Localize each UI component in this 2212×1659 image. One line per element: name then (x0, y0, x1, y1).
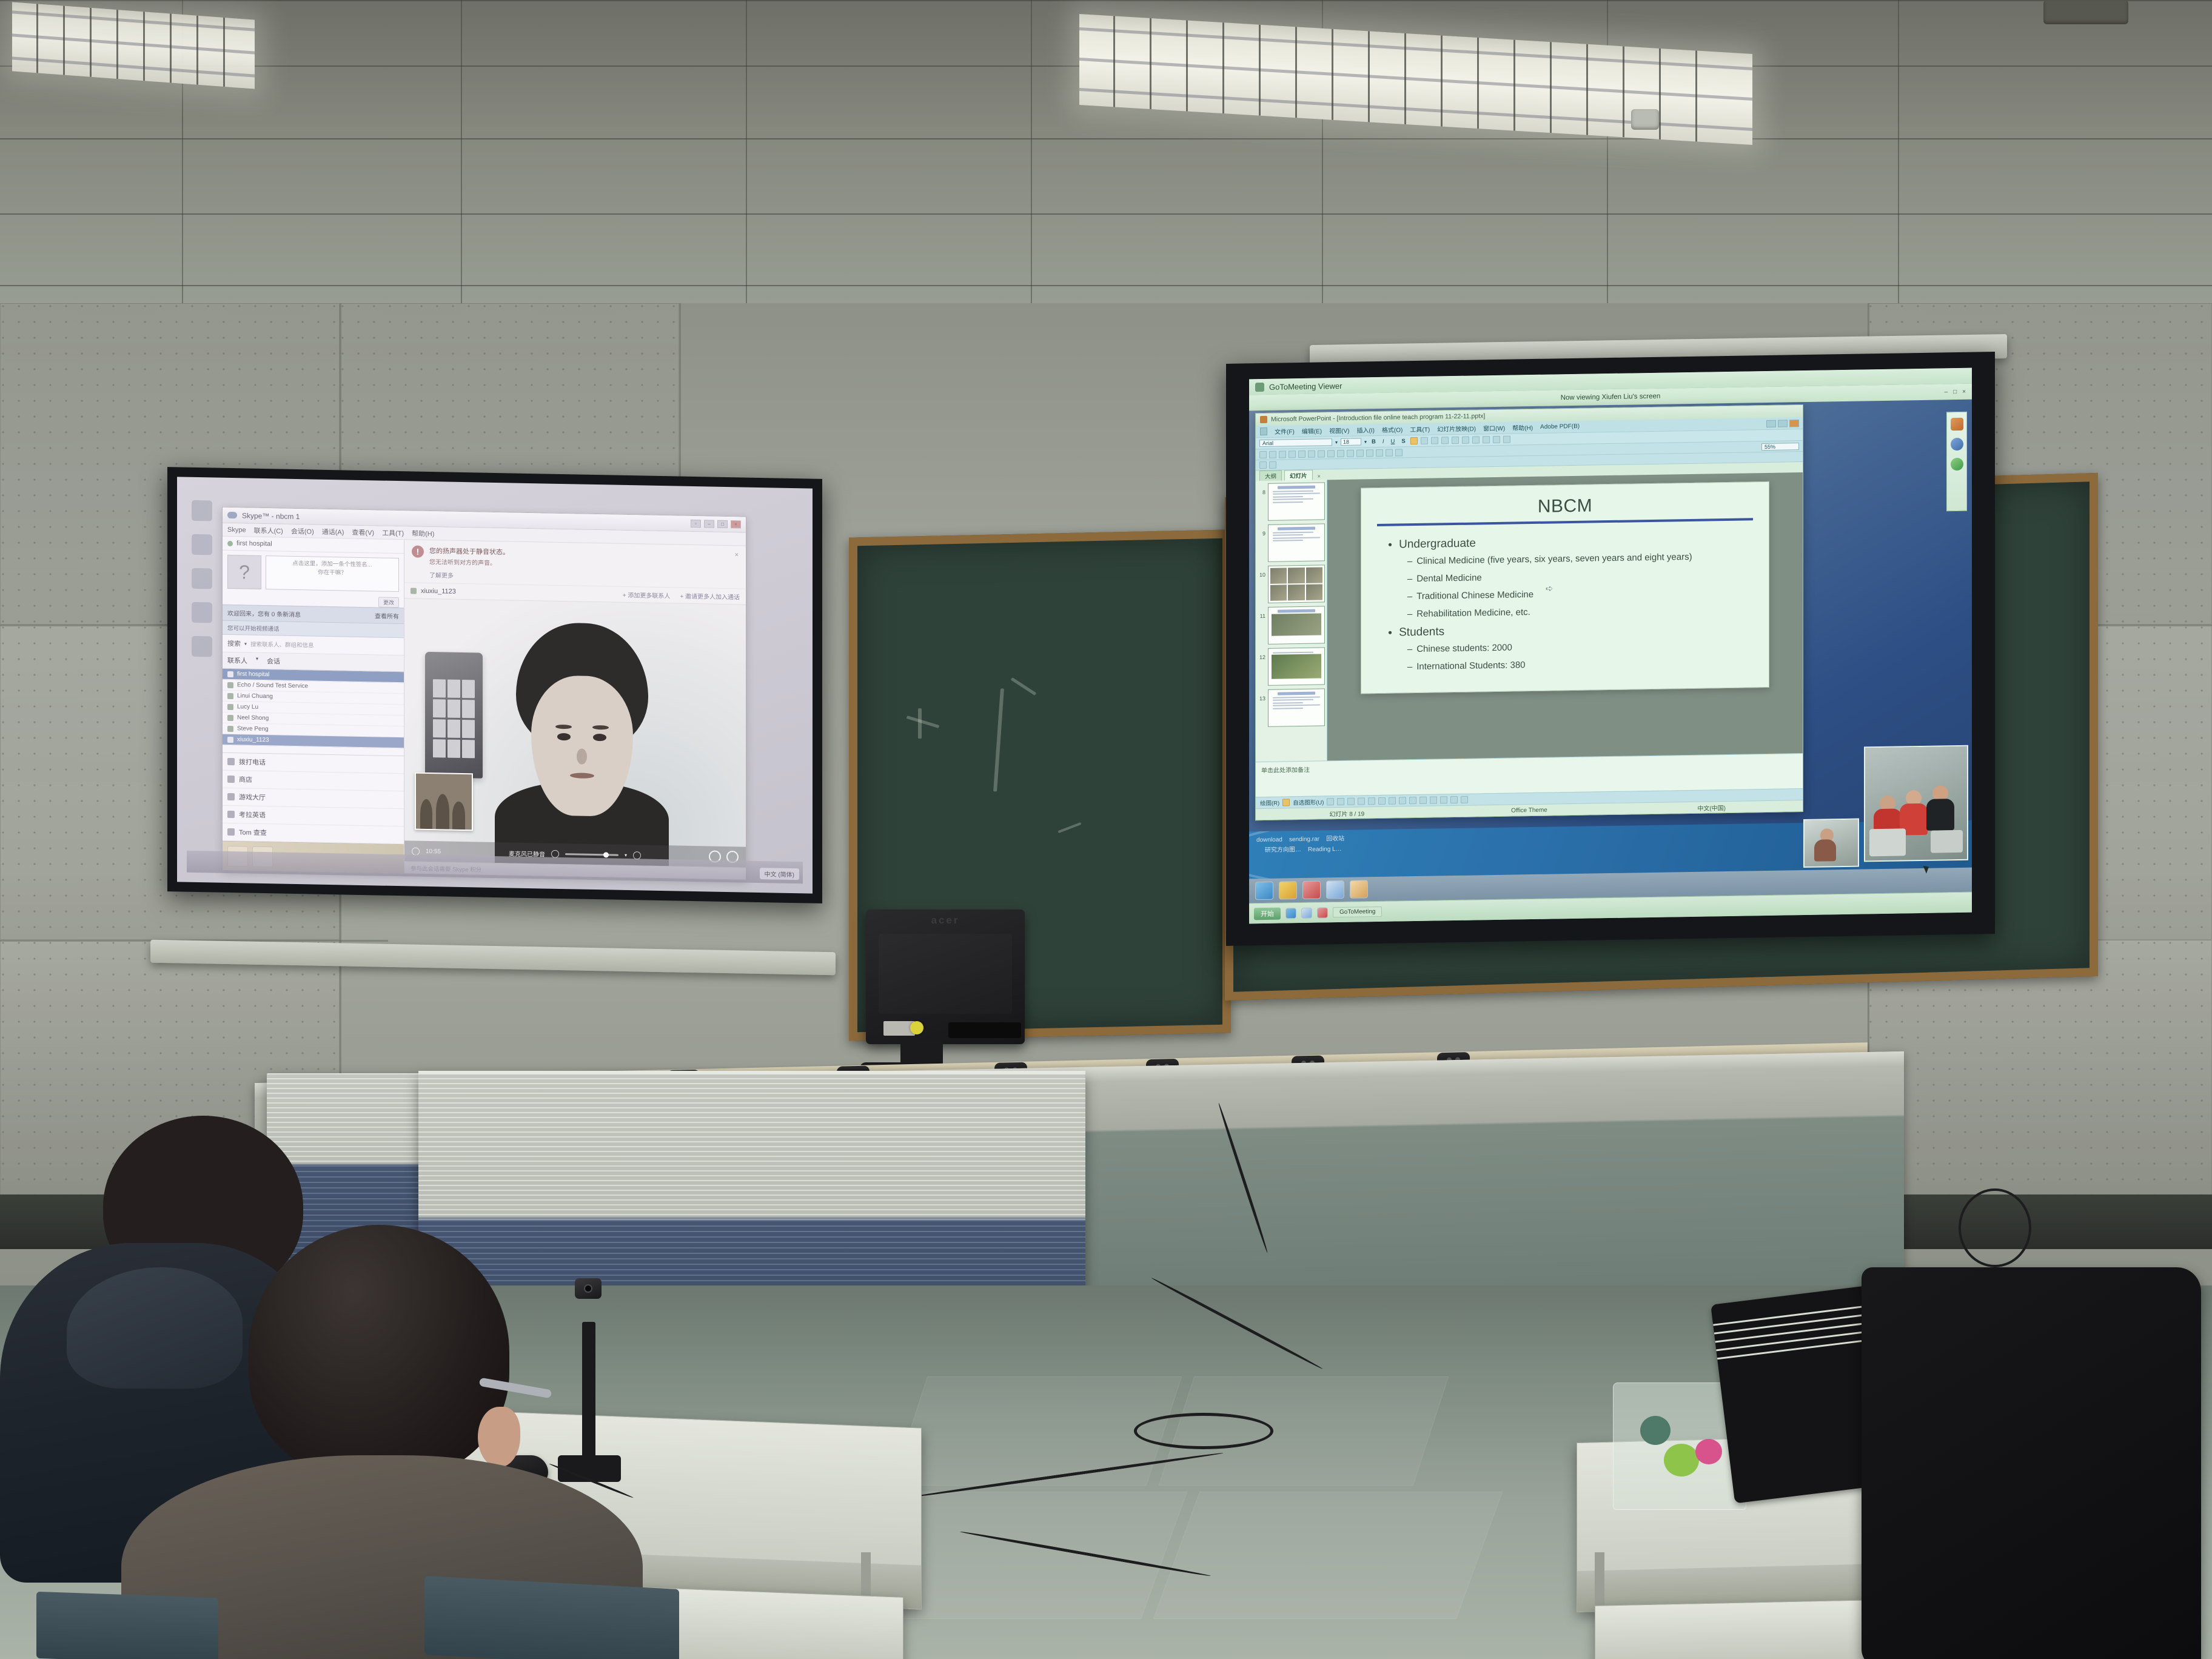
contact-name: Steve Peng (237, 725, 269, 732)
menu-item[interactable]: 帮助(H) (1512, 423, 1533, 432)
contact-status-icon (227, 692, 233, 699)
font-size-select[interactable]: 18 (1341, 438, 1361, 446)
ceiling (0, 0, 2212, 327)
copy-button[interactable] (1327, 450, 1335, 457)
online-status-icon (227, 540, 233, 546)
font-color-button[interactable] (1440, 796, 1447, 803)
oval-tool-button[interactable] (1358, 797, 1365, 805)
menu-item[interactable]: 幻灯片放映(D) (1437, 423, 1476, 433)
bullet-text: Chinese students: 2000 (1416, 642, 1512, 656)
nav-label: 拨打电话 (239, 757, 266, 767)
lectern-top-edge (418, 1071, 1085, 1074)
menu-item[interactable]: 编辑(E) (1302, 426, 1322, 435)
menu-item[interactable]: 插入(I) (1356, 425, 1374, 434)
close-button[interactable]: × (1962, 388, 1966, 395)
slide-number: 9 (1258, 525, 1265, 537)
theme-indicator: Office Theme (1438, 805, 1621, 815)
shadow-button[interactable]: S (1399, 438, 1407, 444)
contact-name: xiuxiu_1123 (237, 736, 269, 743)
menu-item[interactable]: 工具(T) (382, 528, 404, 538)
warning-line-1: 您的扬声器处于静音状态。 (429, 546, 509, 557)
contact-status-icon (227, 725, 233, 731)
skype-sidebar: first hospital ? 点击这里，添加一条个性签名... 你在干嘛？ … (223, 537, 404, 873)
skype-window-title: Skype™ - nbcm 1 (242, 511, 300, 521)
slide-number: 8 (1258, 483, 1265, 495)
microphone-icon[interactable] (551, 850, 559, 857)
desktop-icon[interactable] (192, 534, 212, 555)
avatar[interactable]: ? (227, 555, 261, 589)
arrow-tool-button[interactable] (1337, 798, 1344, 805)
dash-marker: – (1407, 644, 1412, 656)
classroom-scene: Skype™ - nbcm 1 ▫ – □ × Skype 联系人(C) 会话(… (0, 0, 2212, 1659)
slide-number: 12 (1258, 648, 1265, 660)
bullet-text: Traditional Chinese Medicine (1416, 589, 1533, 603)
tab-contacts[interactable]: 联系人 (227, 655, 247, 666)
paste-button[interactable] (1337, 449, 1344, 457)
redo-button[interactable] (1366, 449, 1373, 457)
menu-item[interactable]: 通话(A) (322, 526, 344, 537)
dash-marker: – (1407, 662, 1412, 674)
presenter-desktop-icons: download sending.rar 回收站 研究方向图… Reading … (1256, 834, 1344, 856)
quicklaunch-icon[interactable] (1285, 908, 1296, 919)
chevron-down-icon[interactable]: ▾ (1335, 440, 1338, 445)
app-icon[interactable] (1350, 880, 1368, 898)
remote-participant-video (507, 622, 657, 866)
slide-bullet-level1: ● Undergraduate (1388, 532, 1753, 551)
remote-video-feed-secondary (1803, 819, 1859, 868)
shadow-style-button[interactable] (1450, 796, 1458, 803)
restore-button[interactable] (1778, 420, 1788, 427)
align-left-button[interactable] (1410, 437, 1418, 444)
hanging-cable-coil (1959, 1188, 2031, 1267)
student-head (249, 1225, 509, 1480)
open-button[interactable] (1269, 451, 1276, 458)
save-button[interactable] (1279, 451, 1286, 458)
chevron-down-icon[interactable]: ▾ (625, 852, 627, 857)
menu-item[interactable]: Adobe PDF(B) (1540, 423, 1580, 431)
monitor-port-bay (948, 1022, 1021, 1038)
gotomeeting-desktop: GoToMeeting Viewer Now viewing Xiufen Li… (1249, 368, 1972, 924)
dash-marker: – (1407, 573, 1412, 585)
warning-line-2: 您无法听到对方的声音。 (429, 557, 509, 567)
bulleted-list-button[interactable] (1452, 437, 1459, 444)
line-color-button[interactable] (1430, 796, 1437, 803)
game-icon (227, 793, 235, 800)
document-icon (1260, 427, 1267, 435)
menu-item[interactable]: 会话(O) (291, 526, 314, 536)
nav-label: 游戏大厅 (239, 792, 266, 802)
dash-marker: – (1407, 591, 1412, 603)
ceiling-light-left (12, 2, 255, 89)
bullet-text: Students (1399, 626, 1444, 640)
powerpoint-window[interactable]: Microsoft PowerPoint - [Introduction fil… (1255, 404, 1803, 820)
nav-label: 考拉英语 (239, 809, 266, 820)
skype-window-controls: ▫ – □ × (691, 520, 741, 529)
numbered-list-button[interactable] (1441, 437, 1449, 444)
select-objects-button[interactable] (1282, 799, 1290, 806)
desktop-icon-label[interactable]: Reading L… (1308, 846, 1342, 853)
call-icon (412, 847, 420, 855)
black-coat (1862, 1267, 2201, 1659)
nav-label: Tom 查查 (239, 827, 267, 837)
slide-bullet-level2: – Chinese students: 2000 (1407, 638, 1753, 656)
skype-nav: 拨打电话 商店 游戏大厅 (223, 752, 404, 844)
slide-title: NBCM (1377, 493, 1753, 520)
slide-number: 10 (1258, 566, 1265, 578)
call-timer: 10:55 (426, 848, 441, 854)
skype-window[interactable]: Skype™ - nbcm 1 ▫ – □ × Skype 联系人(C) 会话(… (222, 507, 746, 880)
minimize-button[interactable]: – (704, 520, 714, 528)
presenter-button[interactable] (1951, 458, 1963, 471)
rectangle-tool-button[interactable] (1347, 798, 1355, 805)
italic-button[interactable]: I (1381, 438, 1386, 444)
picture-button[interactable] (1409, 797, 1416, 804)
animation-button[interactable] (1259, 461, 1267, 469)
projection-screen-left: Skype™ - nbcm 1 ▫ – □ × Skype 联系人(C) 会话(… (167, 467, 822, 903)
taskbar-item-gotomeeting[interactable]: GoToMeeting (1333, 907, 1382, 917)
change-profile-button[interactable]: 更改 (378, 597, 399, 608)
desktop-icon-label[interactable]: 研究方向图… (1265, 846, 1301, 854)
self-view-thumbnail[interactable] (415, 772, 473, 831)
remote-video-feed-primary (1864, 745, 1968, 862)
webcam-stand-base (558, 1455, 621, 1482)
desktop-icon-label[interactable]: download (1256, 837, 1282, 844)
diagram-button[interactable] (1389, 797, 1396, 805)
transition-button[interactable] (1269, 461, 1276, 469)
contact-status-icon (227, 703, 233, 709)
contact-status-icon (411, 588, 417, 594)
slide-content: NBCM ● Undergraduate – Clinical Medicine… (1361, 481, 1769, 694)
audio-button[interactable] (1951, 438, 1963, 451)
acer-monitor: acer (866, 910, 1025, 1044)
slide-divider (1377, 518, 1753, 526)
slide-design-button[interactable] (1503, 436, 1510, 443)
record-button[interactable] (1951, 418, 1963, 431)
align-right-button[interactable] (1431, 437, 1438, 444)
search-label: 搜索 (227, 638, 241, 648)
dash-marker: – (1407, 555, 1412, 568)
chair-back (36, 1592, 218, 1659)
contact-name: Linui Chuang (237, 692, 273, 700)
chair-back (424, 1576, 679, 1659)
bullet-marker: ● (1388, 626, 1392, 640)
slide-thumbnail[interactable]: 12 (1258, 647, 1325, 686)
gotomeeting-control-strip[interactable] (1946, 412, 1967, 512)
dash-marker: – (1407, 608, 1412, 620)
insert-chart-button[interactable] (1386, 449, 1393, 456)
nav-label: 商店 (239, 774, 252, 784)
call-contact-name: xiuxiu_1123 (421, 587, 456, 595)
contact-status-icon (227, 682, 233, 688)
textbox-tool-button[interactable] (1368, 797, 1375, 805)
maximize-button[interactable]: □ (1953, 389, 1957, 395)
slide-thumbnail[interactable]: 8 (1258, 482, 1325, 521)
close-button[interactable]: × (731, 520, 741, 528)
minimize-button[interactable] (1766, 420, 1776, 427)
profile-card: ? 点击这里，添加一条个性签名... 你在干嘛？ (223, 551, 404, 596)
menu-item[interactable]: 查看(V) (352, 527, 374, 537)
preview-button[interactable] (1298, 450, 1305, 457)
bullet-text: Clinical Medicine (five years, six years… (1416, 551, 1692, 568)
increase-font-button[interactable] (1462, 437, 1469, 444)
insert-table-button[interactable] (1376, 449, 1383, 456)
quicklaunch-icon[interactable] (1301, 907, 1312, 918)
gotomeeting-stage: Now viewing Xiufen Liu's screen – □ × Mi… (1249, 384, 1972, 924)
view-all-link[interactable]: 查看所有 (375, 611, 399, 620)
projection-screen-right: GoToMeeting Viewer Now viewing Xiufen Li… (1226, 352, 1995, 946)
desktop-icons-left (192, 500, 223, 657)
wordart-button[interactable] (1378, 797, 1386, 805)
contact-name: Lucy Lu (237, 703, 258, 711)
print-button[interactable] (1289, 451, 1296, 458)
new-button[interactable] (1259, 451, 1267, 458)
powerpoint-title: Microsoft PowerPoint - [Introduction fil… (1271, 412, 1485, 423)
slide-thumbnail-pane[interactable]: 8 9 10 11 (1256, 480, 1327, 762)
desktop-icon[interactable] (192, 602, 212, 623)
contact-list: first hospital Echo / Sound Test Service… (223, 669, 404, 756)
contact-name: Neel Shong (237, 714, 269, 722)
learn-more-link[interactable]: 了解更多 (429, 570, 509, 580)
search-input[interactable]: 搜索联系人、群组和信息 (250, 640, 399, 651)
underline-button[interactable]: U (1389, 438, 1397, 444)
slide-bullet-level2: – International Students: 380 (1407, 656, 1753, 674)
desktop-icon-label[interactable]: 回收站 (1326, 836, 1344, 842)
powerpoint-icon (1260, 416, 1267, 423)
slide-bullet-level2: – Rehabilitation Medicine, etc. (1407, 603, 1753, 621)
camera-icon[interactable] (633, 851, 641, 859)
store-icon (227, 776, 235, 783)
bullet-text: Undergraduate (1399, 537, 1476, 551)
desktop-icon[interactable] (192, 568, 212, 589)
profile-display-name: first hospital (236, 540, 272, 548)
slide-number: 13 (1258, 689, 1265, 702)
zoom-select[interactable]: 55% (1761, 443, 1799, 451)
new-slide-button[interactable] (1493, 436, 1500, 443)
powerpoint-taskbar-icon[interactable] (1302, 881, 1321, 899)
contact-status-icon (227, 736, 233, 742)
format-painter-button[interactable] (1347, 449, 1354, 457)
contact-status-icon (227, 714, 233, 720)
desktop-icon[interactable] (192, 500, 212, 521)
tab-conversations[interactable]: 会话 (267, 656, 280, 666)
browser-icon[interactable] (1255, 882, 1273, 900)
menu-item[interactable]: 帮助(H) (412, 528, 434, 538)
restore-button[interactable]: ▫ (691, 520, 701, 528)
add-to-call-action[interactable]: + 邀请更多人加入通话 (680, 591, 740, 602)
slide-bullet-level1: ● Students (1388, 621, 1753, 640)
fill-color-button[interactable] (1419, 797, 1427, 804)
menu-item[interactable]: 窗口(W) (1483, 423, 1505, 433)
bold-button[interactable]: B (1370, 438, 1378, 445)
taskbar-tray-left[interactable]: 中文 (简体) (760, 868, 799, 880)
menu-item[interactable]: 视图(V) (1329, 426, 1349, 435)
minimize-button[interactable]: – (1945, 389, 1948, 395)
add-contact-action[interactable]: + 添加更多联系人 (623, 590, 671, 600)
3d-style-button[interactable] (1461, 796, 1468, 803)
skype-main-panel: ! 您的扬声器处于静音状态。 您无法听到对方的声音。 了解更多 × xiuxiu… (404, 540, 746, 879)
spellcheck-button[interactable] (1308, 450, 1315, 457)
slide-bullet-level2: – Clinical Medicine (five years, six yea… (1407, 550, 1753, 568)
draw-menu[interactable]: 绘图(R) (1260, 799, 1279, 808)
slide-thumbnail[interactable]: 11 (1258, 606, 1325, 645)
contact-name: Echo / Sound Test Service (237, 682, 308, 689)
close-warning-icon[interactable]: × (735, 551, 739, 558)
menu-item[interactable]: Skype (227, 526, 246, 534)
line-tool-button[interactable] (1327, 798, 1334, 805)
student-ear (478, 1407, 520, 1467)
speaker-muted-warning: ! 您的扬声器处于静音状态。 您无法听到对方的声音。 了解更多 × (404, 540, 746, 589)
menu-item[interactable]: 格式(O) (1382, 424, 1403, 434)
desk-phone-in-video (425, 651, 483, 779)
gotomeeting-logo-icon (1255, 382, 1264, 391)
close-pane-icon[interactable]: × (1318, 474, 1321, 480)
slide-thumbnail[interactable]: 13 (1258, 688, 1325, 727)
desktop-icon-label[interactable]: sending.rar (1289, 836, 1319, 843)
phone-icon (227, 758, 235, 765)
slide-bullet-level2: – Traditional Chinese Medicine ➪ (1407, 585, 1753, 603)
chevron-down-icon[interactable]: ▾ (1364, 439, 1367, 444)
undo-button[interactable] (1356, 449, 1364, 457)
bullet-text: Rehabilitation Medicine, etc. (1416, 606, 1530, 620)
bullet-text: International Students: 380 (1416, 660, 1525, 674)
book-icon (227, 811, 235, 818)
language-indicator: 中文(中国) (1620, 802, 1803, 814)
slide-bullet-level2: – Dental Medicine (1407, 568, 1753, 585)
power-cable-coil (1134, 1413, 1273, 1449)
slide-thumbnail[interactable]: 10 (1258, 565, 1325, 603)
quicklaunch-icon[interactable] (1317, 907, 1328, 918)
video-call-area[interactable]: 10:55 麦克风已静音 ▾ (404, 598, 746, 867)
contact-name: first hospital (237, 671, 269, 678)
bullet-marker: ● (1388, 538, 1392, 552)
alert-icon: ! (412, 545, 424, 557)
decrease-font-button[interactable] (1472, 436, 1480, 443)
desktop-icon[interactable] (192, 636, 212, 657)
webcam-icon (575, 1278, 602, 1299)
tab-slides[interactable]: 幻灯片 (1284, 470, 1313, 481)
ceiling-sensor (1631, 109, 1659, 130)
gotomeeting-window-title: GoToMeeting Viewer (1269, 381, 1342, 391)
insert-picture-button[interactable] (1395, 449, 1403, 456)
welcome-label: 欢迎回来，您有 0 条新消息 (227, 611, 301, 618)
tab-outline[interactable]: 大纲 (1259, 471, 1282, 481)
mood-message-input[interactable]: 点击这里，添加一条个性签名... 你在干嘛？ (266, 555, 399, 592)
menu-item[interactable]: 文件(F) (1275, 426, 1295, 436)
monitor-yellow-sticker (910, 1021, 923, 1034)
viewing-banner-text: Now viewing Xiufen Liu's screen (1561, 393, 1661, 402)
font-name-select[interactable]: Arial (1259, 438, 1332, 447)
language-indicator[interactable]: 中文 (简体) (765, 869, 794, 879)
webcam-stand (582, 1322, 595, 1467)
menu-item[interactable]: 工具(T) (1410, 424, 1430, 434)
ceiling-vent (2043, 0, 2128, 24)
folder-icon[interactable] (1326, 880, 1344, 899)
slide-thumbnail[interactable]: 9 (1258, 523, 1325, 562)
maximize-button[interactable]: □ (717, 520, 728, 528)
slide-canvas[interactable]: NBCM ● Undergraduate – Clinical Medicine… (1327, 472, 1803, 760)
menu-item[interactable]: 联系人(C) (254, 525, 283, 535)
slide-indicator: 幻灯片 8 / 19 (1256, 807, 1438, 819)
search-icon (227, 828, 235, 836)
bullet-text: Dental Medicine (1416, 572, 1482, 585)
volume-slider[interactable] (565, 853, 618, 856)
mouse-cursor-icon: ➪ (1546, 583, 1553, 595)
mood-sub: 你在干嘛？ (270, 568, 395, 578)
autoshapes-menu[interactable]: 自选图形(U) (1293, 797, 1324, 806)
cut-button[interactable] (1318, 450, 1325, 457)
viewer-window-controls: – □ × (1945, 388, 1966, 395)
skype-logo-icon (227, 512, 237, 518)
font-color-button[interactable] (1483, 436, 1490, 443)
monitor-brand-label: acer (931, 914, 960, 927)
skype-desktop: Skype™ - nbcm 1 ▫ – □ × Skype 联系人(C) 会话(… (177, 477, 813, 893)
contact-status-icon (227, 671, 233, 677)
start-button[interactable]: 开始 (1254, 907, 1281, 920)
app-icon[interactable] (1279, 881, 1297, 899)
slide-number: 11 (1258, 607, 1265, 619)
align-center-button[interactable] (1421, 437, 1428, 444)
clipart-button[interactable] (1399, 797, 1406, 804)
close-button[interactable] (1789, 420, 1799, 427)
